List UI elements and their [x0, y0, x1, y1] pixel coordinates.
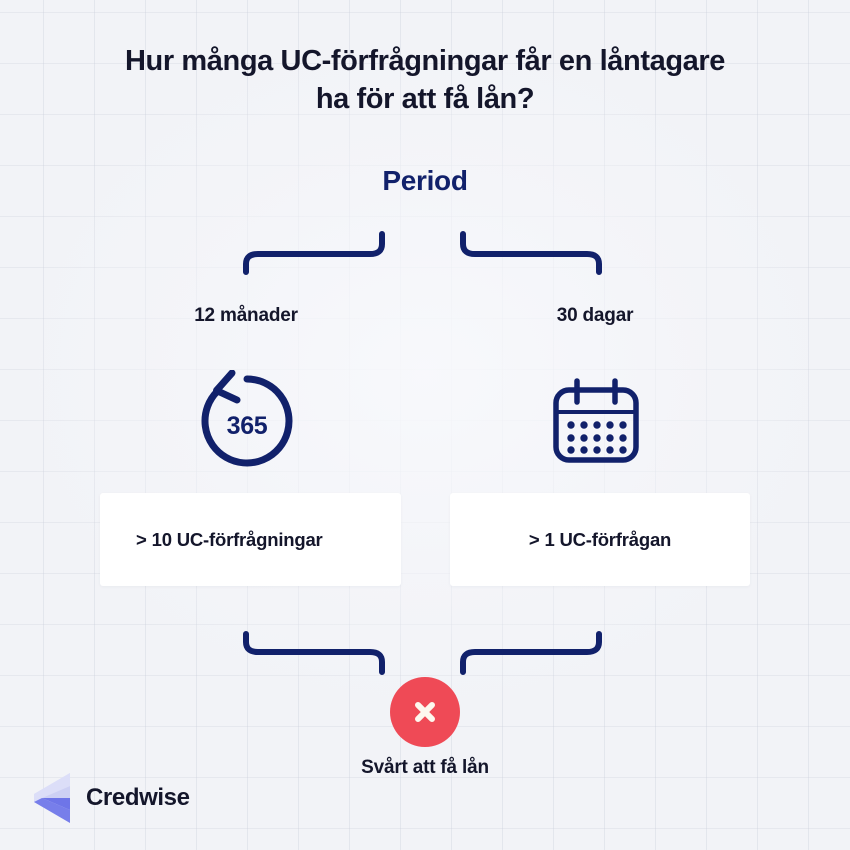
card-right-label: 1 UC-förfrågan	[544, 529, 671, 550]
page-title-line-2: ha för att få lån?	[40, 80, 810, 118]
card-right-chevron: >	[529, 529, 540, 550]
card-left-label: 10 UC-förfrågningar	[152, 529, 323, 550]
infographic-canvas: Hur många UC-förfrågningar får en låntag…	[0, 0, 850, 850]
refresh-icon-value: 365	[196, 370, 298, 476]
refresh-365-icon: 365	[196, 370, 298, 481]
status-badge-difficult	[390, 677, 460, 747]
bracket-top-left-icon	[240, 228, 390, 278]
card-right-uc-requests[interactable]: >1 UC-förfrågan	[450, 493, 750, 586]
bracket-bottom-right-icon	[455, 628, 605, 678]
credwise-chevron-logo-icon	[32, 772, 72, 824]
card-left-text: >10 UC-förfrågningar	[136, 529, 323, 551]
card-left-uc-requests[interactable]: >10 UC-förfrågningar	[100, 493, 401, 586]
card-right-text: >1 UC-förfrågan	[529, 529, 671, 551]
x-close-icon	[409, 696, 441, 728]
bracket-bottom-left-icon	[240, 628, 390, 678]
brand-name: Credwise	[86, 784, 190, 812]
period-right-duration: 30 dagar	[495, 305, 695, 327]
period-left-duration: 12 månader	[146, 305, 346, 327]
bracket-top-right-icon	[455, 228, 605, 278]
brand-logo[interactable]: Credwise	[32, 772, 190, 824]
calendar-icon	[548, 376, 644, 471]
period-heading: Period	[0, 165, 850, 197]
page-title: Hur många UC-förfrågningar får en låntag…	[0, 42, 850, 119]
page-title-line-1: Hur många UC-förfrågningar får en låntag…	[40, 42, 810, 80]
card-left-chevron: >	[136, 529, 147, 550]
